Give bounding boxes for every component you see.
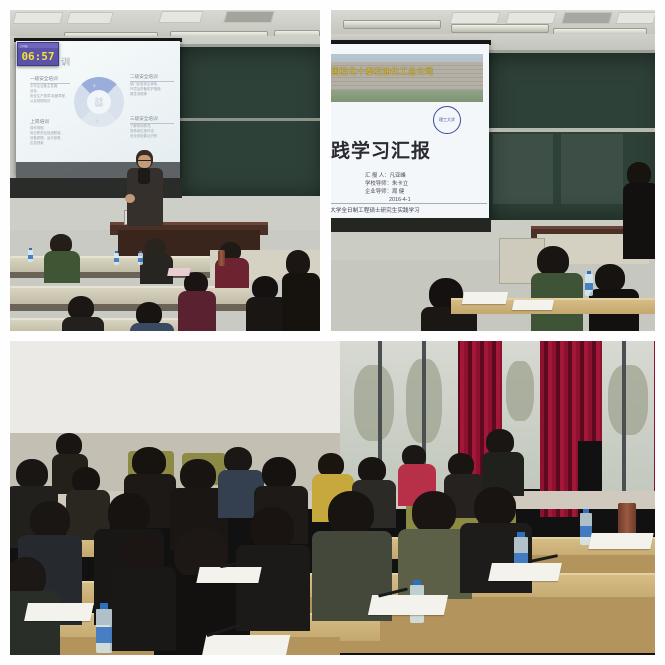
bottle-label: [96, 627, 112, 643]
paper-sheet: [462, 292, 509, 304]
slide-company-advisor-line: 企业导师：周 健: [365, 188, 404, 196]
bottle-cap: [587, 271, 591, 274]
water-bottle: [138, 253, 143, 265]
bottle-cap: [517, 532, 525, 537]
paper-sheet: [167, 268, 191, 276]
donut-center-line2: 培训: [95, 102, 103, 107]
audience-head: [595, 264, 625, 292]
audience-head: [16, 459, 48, 489]
curtain: [654, 341, 655, 491]
slide-banner-text: 中国石化十泰石油化工总公司: [331, 66, 479, 77]
audience-torso: [62, 317, 104, 331]
bottle-cap: [100, 603, 108, 609]
attendee-torso: [623, 183, 655, 259]
presenter-glasses: [138, 160, 151, 161]
donut-segment-index-3: 3: [96, 119, 99, 124]
audience-head: [122, 533, 162, 571]
slide-report-title: 中国石化十泰石油化工总公司 理工大学 实践学习汇报 汇 报 人：凡亚峰 学校导师…: [331, 44, 489, 220]
projection-screen: 中国石化十泰石油化工总公司 理工大学 实践学习汇报 汇 报 人：凡亚峰 学校导师…: [331, 44, 489, 220]
slide-heading-1: 一级安全培训: [30, 76, 70, 84]
water-bottle: [96, 609, 112, 653]
chalkboard-smudge: [561, 134, 623, 204]
audience-torso: [110, 567, 176, 651]
paper-sheet: [24, 603, 94, 621]
audience-head: [250, 507, 294, 549]
audience-head: [328, 491, 374, 535]
chalk-tray: [483, 128, 655, 132]
curtain: [576, 341, 604, 441]
chalkboard-divider: [176, 118, 320, 121]
paper-sheet: [512, 300, 554, 310]
audience-head: [180, 459, 216, 491]
audience-head: [108, 493, 150, 533]
tree-outside: [608, 365, 648, 435]
thermos: [218, 250, 225, 266]
slide-heading-2: 二级安全培训: [130, 74, 174, 82]
bottle-label: [138, 258, 143, 262]
photo-collage: 企业培训 企业 培训 1 3 一级安全培训 中华企业集主发展, 目标, 安全生产…: [0, 0, 665, 665]
slide-main-title: 实践学习汇报: [331, 136, 431, 163]
ceiling-light-fixture: [451, 24, 549, 33]
paper-sheet: [488, 563, 562, 581]
audience-torso: [282, 273, 320, 331]
seal-text: 理工大学: [439, 117, 455, 123]
audience-head: [537, 246, 569, 276]
bottle-label: [114, 258, 119, 262]
presenter-face: [138, 155, 151, 168]
paper-sheet: [202, 635, 291, 655]
slide-photo-grass: [331, 90, 483, 102]
bottle-label: [28, 255, 33, 259]
timer-value: 06:57: [18, 48, 58, 65]
photo-lecture-hall-presenter: 企业培训 企业 培训 1 3 一级安全培训 中华企业集主发展, 目标, 安全生产…: [10, 10, 320, 331]
bottle-cap: [583, 509, 589, 513]
presenter-collar: [138, 168, 150, 184]
audience-head: [132, 447, 166, 477]
water-bottle: [585, 274, 593, 296]
slide-header-photo: 中国石化十泰石油化工总公司: [331, 54, 483, 102]
slide-school-advisor-line: 学校导师：朱卡立: [365, 180, 408, 188]
donut-center-label: 企业 培训: [87, 90, 111, 114]
audience-torso: [236, 545, 310, 631]
audience-torso: [44, 251, 80, 283]
audience-torso: [130, 323, 174, 331]
bottle-label: [585, 283, 593, 290]
audience-head: [412, 491, 456, 533]
audience-torso: [10, 591, 60, 655]
slide-body-2: 部门实验常见事故, 环境及防备防护措施, 救急流程等: [130, 82, 176, 97]
audience-head: [474, 487, 516, 527]
water-bottle: [28, 250, 33, 262]
slide-body-4: 操作规程, 岗位职责及班组职能, 设备原理、运行参数, 应急预案: [30, 126, 72, 146]
audience-head: [262, 457, 296, 489]
tree-outside: [506, 361, 534, 421]
bottle-cap: [115, 251, 118, 253]
paper-sheet: [196, 567, 261, 583]
bottle-cap: [139, 251, 142, 253]
slide-heading-3: 三级安全培训: [130, 116, 174, 124]
countdown-timer[interactable]: 计时器 06:57: [17, 42, 59, 66]
tree-outside: [354, 365, 394, 441]
audience-torso: [178, 291, 216, 331]
presenter-hand: [125, 194, 135, 203]
slide-heading-4: 上岗培训: [30, 118, 70, 126]
ceiling-light-fixture: [343, 20, 441, 29]
donut-segment-index-1: 1: [93, 83, 96, 88]
slide-body-3: 了解现场情况, 熟悉岗位操作法, 安全风险要点识别: [130, 124, 176, 139]
university-seal-logo: 理工大学: [433, 106, 461, 134]
bottle-cap: [413, 580, 421, 585]
chalkboard-smudge: [493, 134, 553, 204]
paper-sheet: [588, 533, 653, 549]
photo-lecture-title-slide: 中国石化十泰石油化工总公司 理工大学 实践学习汇报 汇 报 人：凡亚峰 学校导师…: [331, 10, 655, 331]
water-bottle: [114, 253, 119, 265]
bottle-cap: [29, 248, 32, 250]
presenter: [122, 150, 170, 228]
paper-sheet: [368, 595, 448, 615]
chalkboard: [176, 44, 320, 202]
window: [602, 341, 655, 499]
photo-audience-wide: [10, 341, 655, 655]
window-mullion: [622, 341, 626, 499]
audience-head: [30, 501, 70, 539]
slide-footer-text: 理工大学全日制工程硕士研究生实践学习: [331, 203, 487, 214]
slide-body-1: 中华企业集主发展, 目标, 安全生产规章,制度章程, 以及常规知识: [30, 84, 72, 104]
screen-lower-edge: [331, 218, 491, 232]
slide-presenter-line: 汇 报 人：凡亚峰: [365, 172, 406, 180]
